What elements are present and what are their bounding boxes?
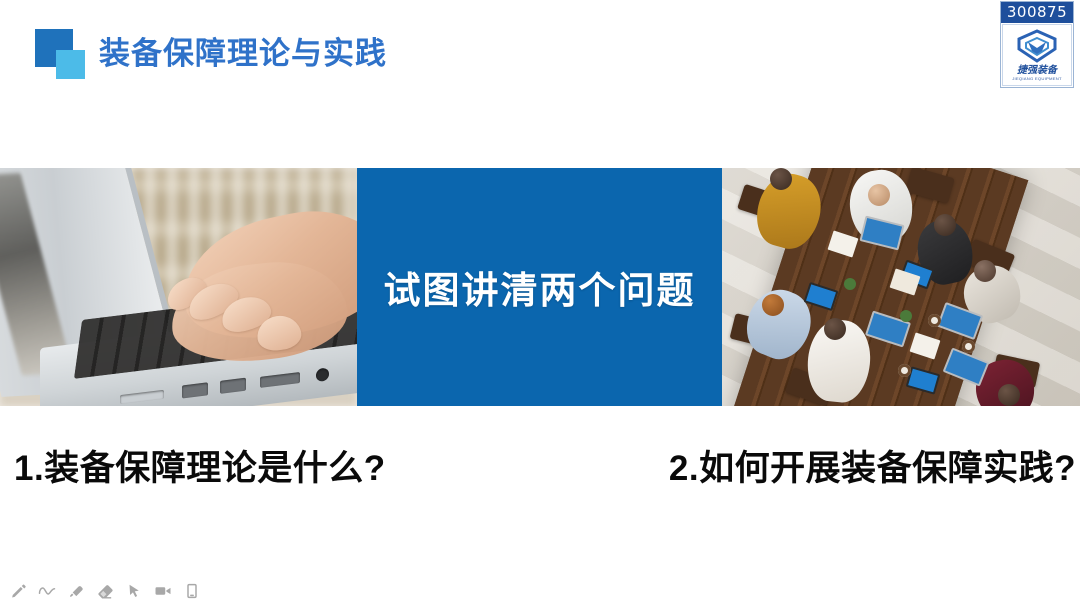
slide-header: 装备保障理论与实践 xyxy=(0,0,1080,110)
question-2: 2.如何开展装备保障实践? xyxy=(669,440,1076,491)
person-head xyxy=(998,384,1020,406)
company-name-en: JIEQIANG EQUIPMENT xyxy=(1001,76,1072,82)
laptop-photo-canvas xyxy=(0,168,357,406)
presentation-slide: 装备保障理论与实践 300875 捷强装备 JIEQIANG EQUIPMENT xyxy=(0,0,1080,609)
port-slot xyxy=(120,390,164,404)
blue-squares-logo xyxy=(35,29,87,79)
stock-code-label: 300875 xyxy=(1001,2,1073,23)
coffee-cup xyxy=(928,314,941,327)
curve-line-icon[interactable] xyxy=(37,581,57,601)
pointer-icon[interactable] xyxy=(124,581,144,601)
port-audio xyxy=(316,367,329,382)
video-camera-icon[interactable] xyxy=(153,581,173,601)
banner-caption-panel: 试图讲清两个问题 xyxy=(357,168,722,406)
banner-caption-text: 试图讲清两个问题 xyxy=(357,168,722,406)
logo-square-light xyxy=(56,50,85,79)
person-head xyxy=(762,294,784,316)
person-head xyxy=(770,168,792,190)
plant xyxy=(900,310,912,322)
banner-strip: 试图讲清两个问题 xyxy=(0,168,1080,406)
pen-icon[interactable] xyxy=(8,581,28,601)
highlighter-icon[interactable] xyxy=(66,581,86,601)
coffee-cup xyxy=(898,364,911,377)
meeting-photo-canvas xyxy=(722,168,1080,406)
port-usb xyxy=(182,382,208,398)
laptop-photo xyxy=(0,168,357,406)
mobile-device-icon[interactable] xyxy=(182,581,202,601)
question-list: 1.装备保障理论是什么? 2.如何开展装备保障实践? xyxy=(0,440,1080,506)
meeting-photo xyxy=(722,168,1080,406)
question-1: 1.装备保障理论是什么? xyxy=(14,440,386,491)
port-hdmi xyxy=(260,372,300,388)
annotation-toolbar[interactable] xyxy=(0,573,1080,609)
person-head xyxy=(868,184,890,206)
plant xyxy=(844,278,856,290)
page-title: 装备保障理论与实践 xyxy=(99,31,387,77)
corporate-badge: 300875 捷强装备 JIEQIANG EQUIPMENT xyxy=(1000,1,1074,88)
company-name-cn: 捷强装备 xyxy=(1003,65,1071,76)
port-usb xyxy=(220,378,246,394)
person-head xyxy=(824,318,846,340)
coffee-cup xyxy=(962,340,975,353)
person-head xyxy=(934,214,956,236)
eraser-icon[interactable] xyxy=(95,581,115,601)
hexagon-shield-emblem xyxy=(1015,29,1059,65)
corporate-emblem: 捷强装备 JIEQIANG EQUIPMENT xyxy=(1002,24,1072,86)
person-head xyxy=(974,260,996,282)
